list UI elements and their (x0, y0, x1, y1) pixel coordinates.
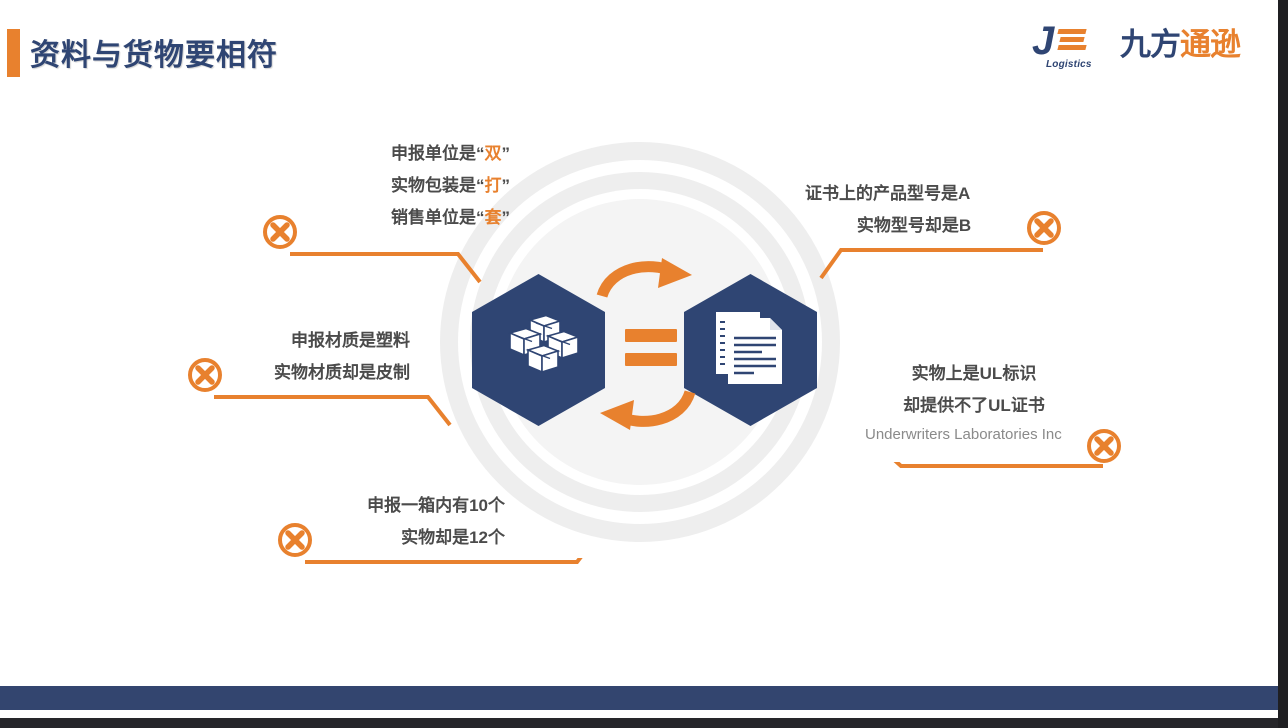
x-circle-icon (277, 522, 313, 558)
callout-connector-line (214, 393, 454, 434)
callout-line: 申报单位是“双” (270, 138, 510, 170)
callout-connector-line (305, 558, 595, 597)
footer-bar (0, 686, 1288, 710)
equals-icon (625, 329, 677, 371)
page-title: 资料与货物要相符 (30, 30, 278, 74)
callout-line: 实物型号却是B (805, 210, 1023, 242)
logo-letter-j: J (1032, 21, 1054, 61)
callout-ul-mark-without-certificate: 实物上是UL标识 却提供不了UL证书 Underwriters Laborato… (865, 358, 1083, 448)
callout-declared-unit-mismatch: 申报单位是“双” 实物包装是“打” 销售单位是“套” (270, 138, 510, 234)
callout-certificate-model-mismatch: 证书上的产品型号是A 实物型号却是B (805, 178, 1023, 242)
x-circle-icon (262, 214, 298, 250)
logo-subtext: Logistics (1046, 59, 1092, 70)
callout-line: 销售单位是“套” (270, 202, 510, 234)
callout-line: 实物材质却是皮制 (200, 357, 410, 389)
callout-line: 证书上的产品型号是A (805, 178, 1023, 210)
callout-connector-line (815, 246, 1045, 287)
x-circle-icon (1086, 428, 1122, 464)
title-accent-bar (7, 29, 20, 77)
arrow-cycle-left-icon (596, 388, 696, 435)
logo-cn-blue: 九方 (1120, 27, 1180, 62)
x-circle-icon (187, 357, 223, 393)
callout-text-block: 申报一箱内有10个 实物却是12个 (285, 490, 505, 554)
callout-text-block: 申报材质是塑料 实物材质却是皮制 (200, 325, 410, 389)
callout-line: 申报一箱内有10个 (285, 490, 505, 522)
logo-mark: J Logistics (1032, 22, 1118, 68)
x-circle-icon (1026, 210, 1062, 246)
callout-connector-line (875, 462, 1105, 503)
callout-text-block: 实物上是UL标识 却提供不了UL证书 Underwriters Laborato… (865, 358, 1083, 448)
arrow-cycle-right-icon (596, 258, 696, 305)
brand-logo: J Logistics 九方通逊 (1032, 22, 1240, 68)
slide-canvas: 资料与货物要相符 J Logistics 九方通逊 (0, 0, 1288, 728)
callout-line: 实物却是12个 (285, 522, 505, 554)
callout-note: Underwriters Laboratories Inc (865, 422, 1083, 448)
logo-cn-orange: 通逊 (1180, 27, 1240, 62)
callout-line: 实物上是UL标识 (865, 358, 1083, 390)
frame-edge-right (1278, 0, 1288, 728)
callout-declared-quantity-mismatch: 申报一箱内有10个 实物却是12个 (285, 490, 505, 554)
callout-declared-material-mismatch: 申报材质是塑料 实物材质却是皮制 (200, 325, 410, 389)
callout-text-block: 申报单位是“双” 实物包装是“打” 销售单位是“套” (270, 138, 510, 234)
three-bars-icon (1058, 29, 1086, 53)
callout-line: 却提供不了UL证书 (865, 390, 1083, 422)
frame-edge-bottom (0, 718, 1288, 728)
callout-line: 申报材质是塑料 (200, 325, 410, 357)
logo-company-name: 九方通逊 (1120, 28, 1240, 62)
callout-line: 实物包装是“打” (270, 170, 510, 202)
callout-text-block: 证书上的产品型号是A 实物型号却是B (805, 178, 1023, 242)
callout-connector-line (290, 250, 485, 291)
